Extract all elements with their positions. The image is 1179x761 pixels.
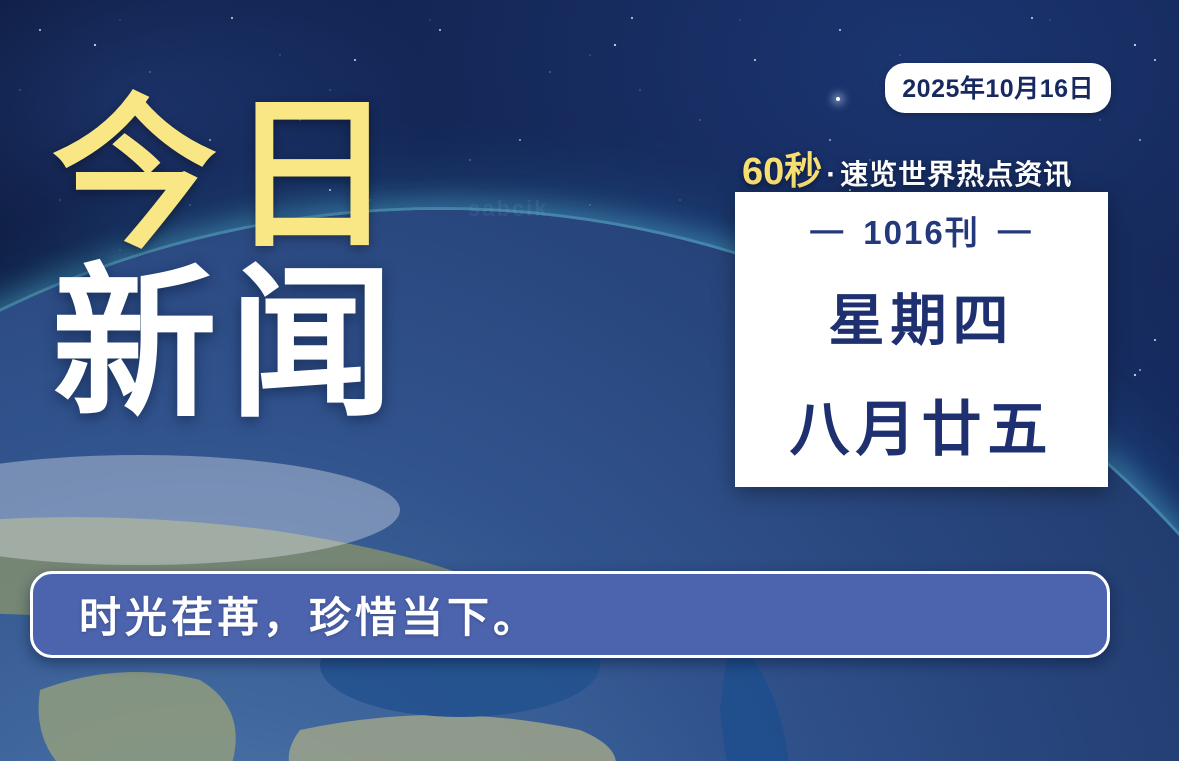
quote-text: 时光荏苒，珍惜当下。 bbox=[33, 584, 539, 645]
issue-number: 1016刊 bbox=[863, 206, 979, 254]
news-poster: sabcik 2025年10月16日 今日 新闻 60秒·速览世界热点资讯 — … bbox=[0, 0, 1179, 761]
issue-dash-right: — bbox=[998, 211, 1033, 249]
issue-dash-left: — bbox=[810, 211, 845, 249]
tagline-highlight: 60秒 bbox=[742, 151, 822, 193]
issue-row: — 1016刊 — bbox=[810, 206, 1032, 254]
background-watermark: sabcik bbox=[468, 196, 549, 222]
title-line-news: 新闻 bbox=[52, 267, 406, 422]
title-line-today: 今日 bbox=[52, 98, 406, 253]
date-badge: 2025年10月16日 bbox=[885, 63, 1111, 113]
tagline-separator: · bbox=[822, 158, 840, 191]
tagline: 60秒·速览世界热点资讯 bbox=[742, 140, 1112, 195]
tagline-text: 速览世界热点资讯 bbox=[840, 159, 1072, 190]
lunar-date-label: 八月廿五 bbox=[790, 381, 1054, 468]
info-card: — 1016刊 — 星期四 八月廿五 bbox=[735, 192, 1108, 487]
quote-bar: 时光荏苒，珍惜当下。 bbox=[30, 571, 1110, 658]
weekday-label: 星期四 bbox=[829, 276, 1015, 357]
poster-title: 今日 新闻 bbox=[52, 98, 406, 422]
